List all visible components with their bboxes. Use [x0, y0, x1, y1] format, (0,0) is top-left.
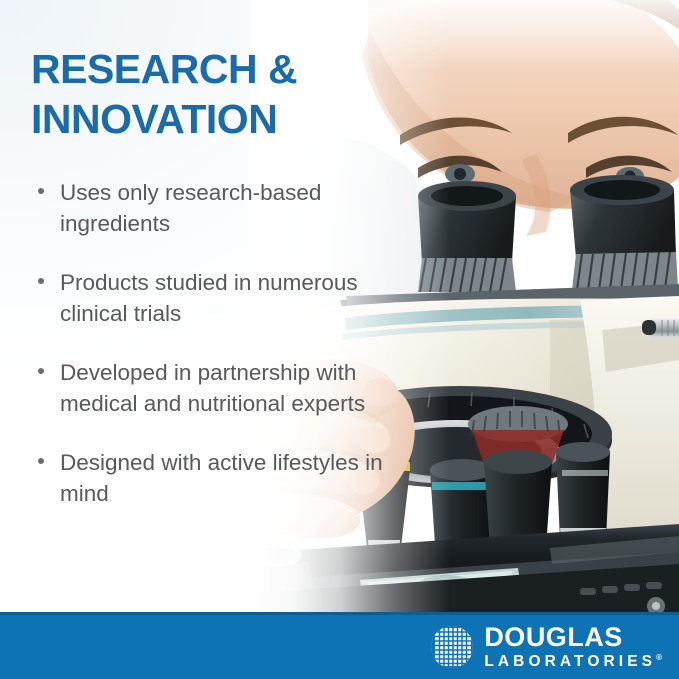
list-item: Developed in partnership with medical an…: [31, 357, 383, 419]
headline-line-2: INNOVATION: [31, 94, 431, 144]
benefits-list: Uses only research-based ingredients Pro…: [31, 177, 383, 509]
logo-wordmark: DOUGLAS LABORATORIES®: [484, 624, 662, 670]
marketing-infographic: RESEARCH & INNOVATION Uses only research…: [0, 0, 679, 679]
list-item: Designed with active lifestyles in mind: [31, 447, 383, 509]
bullet-dot-icon: [38, 188, 44, 194]
brand-name-secondary: LABORATORIES®: [484, 654, 662, 670]
brand-footer: DOUGLAS LABORATORIES®: [0, 612, 679, 679]
registered-trademark-icon: ®: [656, 653, 662, 662]
list-item-label: Developed in partnership with medical an…: [60, 360, 365, 416]
list-item: Products studied in numerous clinical tr…: [31, 267, 383, 329]
list-item: Uses only research-based ingredients: [31, 177, 383, 239]
bullet-dot-icon: [38, 278, 44, 284]
list-item-label: Products studied in numerous clinical tr…: [60, 270, 358, 326]
bullet-dot-icon: [38, 458, 44, 464]
list-item-label: Designed with active lifestyles in mind: [60, 450, 383, 506]
headline-line-1: RESEARCH &: [31, 44, 431, 94]
brand-name-primary: DOUGLAS: [484, 624, 662, 651]
douglas-laboratories-logo: DOUGLAS LABORATORIES®: [429, 624, 662, 670]
circle-grid-logo-icon: [429, 624, 475, 670]
page-title: RESEARCH & INNOVATION: [31, 44, 431, 144]
bullet-dot-icon: [38, 368, 44, 374]
list-item-label: Uses only research-based ingredients: [60, 180, 321, 236]
